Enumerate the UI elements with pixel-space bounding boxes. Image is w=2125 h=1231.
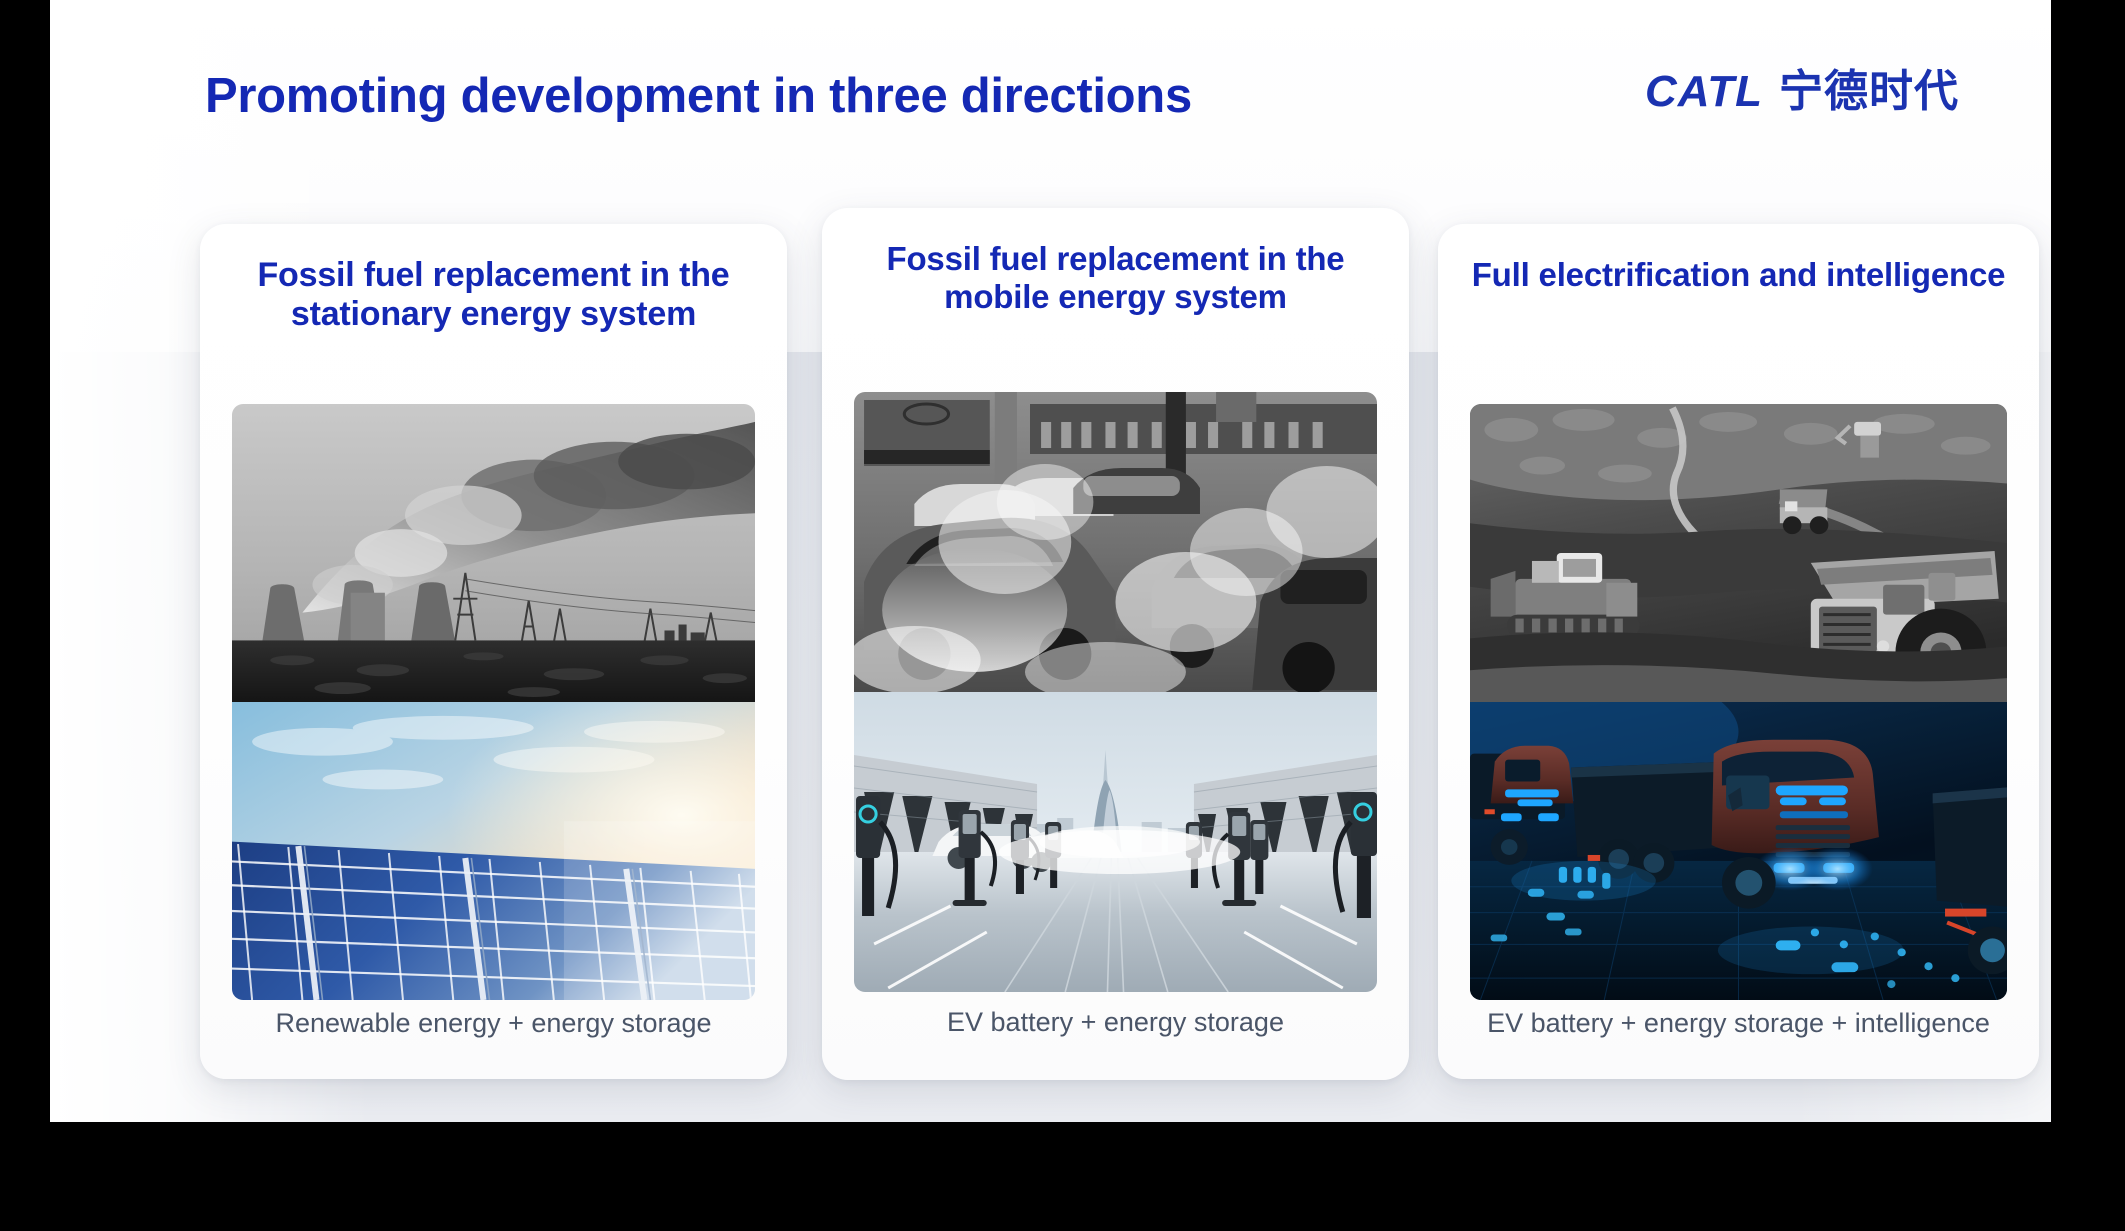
direction-card-stationary-energy[interactable]: Fossil fuel replacement in the stationar… [200, 224, 787, 1079]
card-caption: EV battery + energy storage + intelligen… [1450, 1007, 2027, 1039]
traffic-exhaust-congestion-photo [854, 392, 1377, 692]
direction-card-mobile-energy[interactable]: Fossil fuel replacement in the mobile en… [822, 208, 1409, 1080]
three-directions-card-group: Fossil fuel replacement in the stationar… [50, 0, 2051, 1122]
direction-card-full-electrification[interactable]: Full electrification and intelligence [1438, 224, 2039, 1079]
card-title: Fossil fuel replacement in the stationar… [218, 256, 769, 335]
ev-charging-station-plaza-photo [854, 692, 1377, 992]
solar-panel-array-sunset-photo [232, 702, 755, 1000]
card-title: Fossil fuel replacement in the mobile en… [840, 240, 1391, 317]
card-caption: EV battery + energy storage [834, 1006, 1397, 1038]
card-caption: Renewable energy + energy storage [212, 1007, 775, 1039]
slide-canvas: Promoting development in three direction… [50, 0, 2051, 1122]
card-title: Full electrification and intelligence [1456, 256, 2021, 294]
coal-power-plant-smokestacks-photo [232, 404, 755, 702]
electric-smart-trucks-night-render [1470, 702, 2007, 1000]
open-pit-mining-trucks-photo [1470, 404, 2007, 702]
